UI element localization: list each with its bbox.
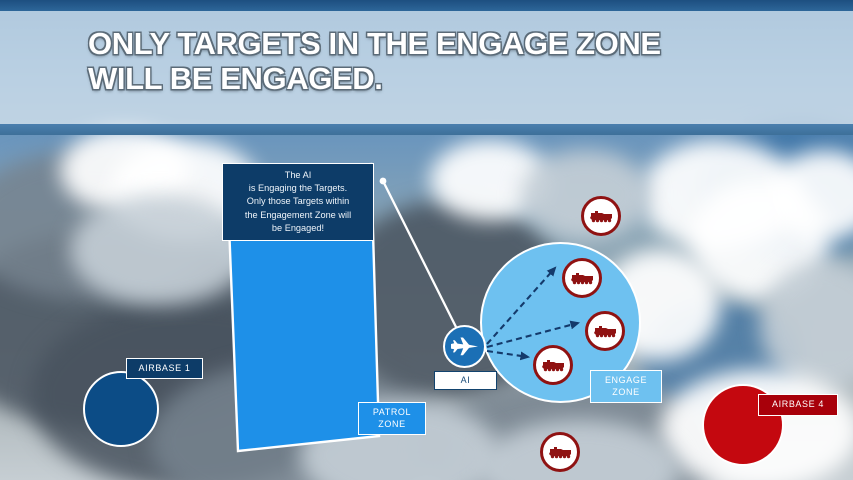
ai-label[interactable]: AI <box>434 371 497 390</box>
slide-canvas: ONLY TARGETS IN THE ENGAGE ZONE WILL BE … <box>0 0 853 480</box>
callout-text: The AI is Engaging the Targets. Only tho… <box>245 169 351 234</box>
airbase-1-label[interactable]: AIRBASE 1 <box>126 358 203 379</box>
target-inside-lower[interactable] <box>533 345 573 385</box>
airbase-4-label[interactable]: AIRBASE 4 <box>758 394 838 416</box>
armored-vehicle-target-icon <box>540 357 566 373</box>
armored-vehicle-target-icon <box>569 270 595 286</box>
engage-zone-label-line-2: ZONE <box>612 387 639 398</box>
engage-zone-label[interactable]: ENGAGE ZONE <box>590 370 662 403</box>
callout-line-2: is Engaging the Targets. <box>245 182 351 195</box>
ai-aircraft-marker[interactable] <box>443 325 486 368</box>
callout-box: The AI is Engaging the Targets. Only tho… <box>222 163 374 241</box>
airbase-1-label-text: AIRBASE 1 <box>139 363 191 374</box>
callout-line-4: the Engagement Zone will <box>245 209 351 222</box>
patrol-zone-label-line-1: PATROL <box>373 407 411 418</box>
callout-line-5: be Engaged! <box>245 222 351 235</box>
patrol-zone-label-line-2: ZONE <box>378 419 405 430</box>
fighter-jet-icon <box>450 335 480 359</box>
armored-vehicle-target-icon <box>592 323 618 339</box>
target-inside-right[interactable] <box>585 311 625 351</box>
engage-zone-label-line-1: ENGAGE <box>605 375 647 386</box>
target-outside-south[interactable] <box>540 432 580 472</box>
airbase-1-circle[interactable] <box>83 371 159 447</box>
callout-line-3: Only those Targets within <box>245 195 351 208</box>
target-inside-upper[interactable] <box>562 258 602 298</box>
ai-label-text: AI <box>461 375 471 386</box>
callout-line-1: The AI <box>245 169 351 182</box>
airbase-4-label-text: AIRBASE 4 <box>772 399 824 410</box>
target-outside-north[interactable] <box>581 196 621 236</box>
armored-vehicle-target-icon <box>547 444 573 460</box>
patrol-zone-label[interactable]: PATROL ZONE <box>358 402 426 435</box>
armored-vehicle-target-icon <box>588 208 614 224</box>
